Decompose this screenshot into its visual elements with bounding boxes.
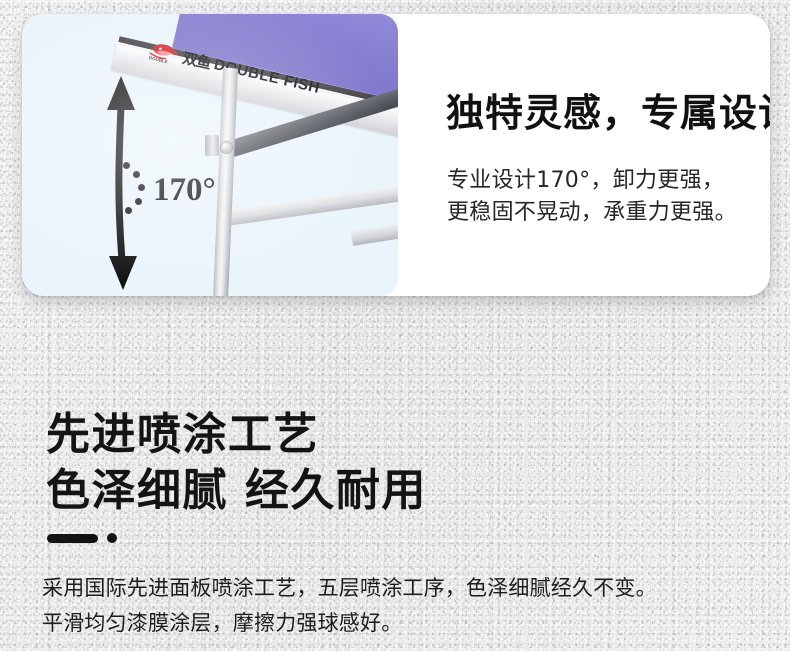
- hinge-bolt: [221, 142, 232, 153]
- feature-card-copy: 独特灵感，专属设计 专业设计170°，卸力更强， 更稳固不晃动，承重力更强。: [442, 14, 762, 296]
- product-photo-panel: DOUBLE 双鱼 DOUBLE FISH 1: [22, 14, 398, 296]
- feature-subline-2: 更稳固不晃动，承重力更强。: [447, 194, 737, 226]
- feature-card: DOUBLE 双鱼 DOUBLE FISH 1: [22, 14, 770, 296]
- hinge-bracket: [205, 135, 219, 156]
- lower-section: 先进喷涂工艺 色泽细腻 经久耐用 采用国际先进面板喷涂工艺，五层喷涂工序，色泽细…: [0, 330, 790, 651]
- divider-dot-icon: [107, 533, 117, 543]
- section-headline-line-1: 先进喷涂工艺: [46, 398, 319, 462]
- divider-dash-icon: [47, 534, 98, 543]
- feature-subline-1: 专业设计170°，卸力更强，: [447, 162, 724, 194]
- table-lower-rail-secondary: [351, 209, 398, 246]
- section-headline-line-2: 色泽细腻 经久耐用: [46, 454, 427, 518]
- table-leg-post: [213, 68, 238, 296]
- angle-value-label: 170°: [153, 172, 216, 209]
- section-body-line-2: 平滑均匀漆膜涂层，摩擦力强球感好。: [42, 607, 402, 637]
- feature-headline: 独特灵感，专属设计: [446, 82, 770, 137]
- section-body-line-1: 采用国际先进面板喷涂工艺，五层喷涂工序，色泽细腻经久不变。: [42, 572, 657, 602]
- divider: [47, 533, 117, 543]
- table-lower-rail: [225, 177, 398, 226]
